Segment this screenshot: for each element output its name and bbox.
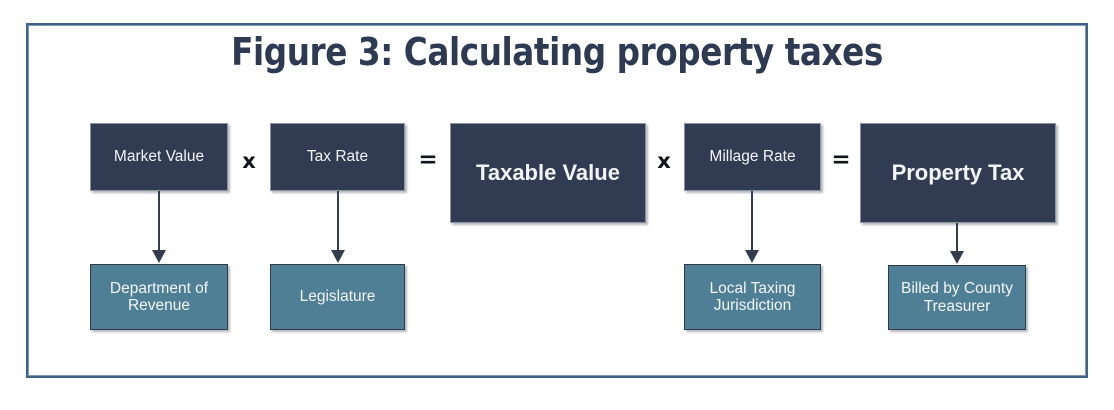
node-taxable-value[interactable]: Taxable Value (450, 123, 646, 223)
connector-arrowhead (152, 250, 166, 263)
connector-stem (158, 191, 160, 250)
node-department-of-revenue-label: Department of Revenue (91, 280, 227, 315)
node-taxable-value-label: Taxable Value (472, 161, 624, 186)
figure-title: Figure 3: Calculating property taxes (78, 30, 1036, 74)
connector-stem (751, 191, 753, 250)
node-market-value-label: Market Value (110, 148, 208, 165)
node-legislature[interactable]: Legislature (270, 264, 405, 330)
node-legislature-label: Legislature (296, 288, 380, 305)
connector-stem (956, 223, 958, 251)
figure-container: Figure 3: Calculating property taxes Mar… (0, 0, 1114, 410)
operator-multiply-1: x (238, 151, 260, 172)
node-property-tax-label: Property Tax (888, 161, 1029, 186)
operator-multiply-2: x (653, 151, 675, 172)
connector-arrowhead (950, 251, 964, 264)
node-department-of-revenue[interactable]: Department of Revenue (90, 264, 228, 330)
node-millage-rate-label: Millage Rate (705, 148, 799, 165)
node-tax-rate[interactable]: Tax Rate (270, 123, 405, 191)
connector-arrowhead (745, 250, 759, 263)
node-local-taxing-jurisdiction-label: Local Taxing Jurisdiction (685, 280, 820, 315)
operator-equals-1: = (416, 149, 440, 172)
connector-arrowhead (331, 250, 345, 263)
connector-stem (337, 191, 339, 250)
node-millage-rate[interactable]: Millage Rate (684, 123, 821, 191)
node-billed-by-county-treasurer-label: Billed by County Treasurer (889, 280, 1025, 315)
node-tax-rate-label: Tax Rate (303, 148, 372, 165)
node-billed-by-county-treasurer[interactable]: Billed by County Treasurer (888, 265, 1026, 330)
node-local-taxing-jurisdiction[interactable]: Local Taxing Jurisdiction (684, 264, 821, 330)
operator-equals-2: = (829, 149, 853, 172)
node-market-value[interactable]: Market Value (90, 123, 228, 191)
node-property-tax[interactable]: Property Tax (860, 123, 1056, 223)
